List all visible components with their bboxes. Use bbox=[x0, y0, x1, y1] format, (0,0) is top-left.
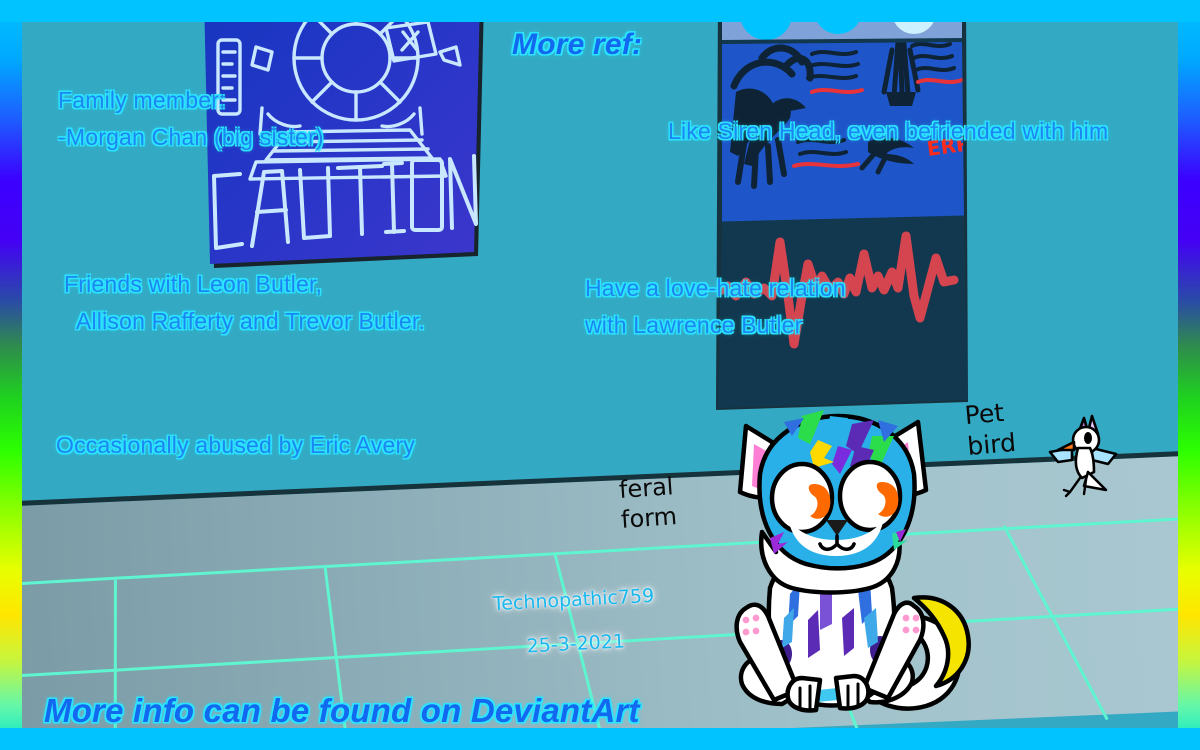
note-family-member: Family member: -Morgan Chan (big sister) bbox=[58, 82, 324, 157]
frame-top-border bbox=[0, 0, 1200, 22]
footer-deviantart: More info can be found on DeviantArt bbox=[44, 692, 640, 730]
poster-reference: ERROR bbox=[716, 22, 976, 416]
note-siren-head: Like Siren Head, even befriended with hi… bbox=[668, 118, 1108, 145]
heading-more-ref: More ref: bbox=[512, 28, 642, 62]
foot-right bbox=[836, 676, 868, 709]
collar bbox=[818, 688, 838, 702]
bird-eye bbox=[1084, 432, 1092, 444]
frame-left-rainbow bbox=[0, 0, 22, 750]
bird-tail bbox=[1084, 472, 1106, 490]
frame-bottom-border bbox=[0, 728, 1200, 750]
artist-signature: Technopathic759 25-3-2021 bbox=[491, 564, 658, 682]
note-friends: Friends with Leon Butler, Allison Raffer… bbox=[64, 266, 425, 341]
artist-name: Technopathic759 bbox=[492, 586, 654, 616]
artwork-canvas: ERROR bbox=[0, 0, 1200, 750]
note-love-hate: Have a love-hate relation with Lawrence … bbox=[585, 270, 846, 345]
frame-right-rainbow bbox=[1178, 0, 1200, 750]
note-abuse: Occasionally abused by Eric Avery bbox=[56, 432, 415, 459]
character-feral-form bbox=[642, 392, 1042, 728]
bird-beak bbox=[1058, 442, 1074, 450]
pet-bird bbox=[1044, 414, 1124, 504]
artwork-date: 25-3-2021 bbox=[495, 629, 657, 659]
foot-left bbox=[788, 678, 820, 711]
